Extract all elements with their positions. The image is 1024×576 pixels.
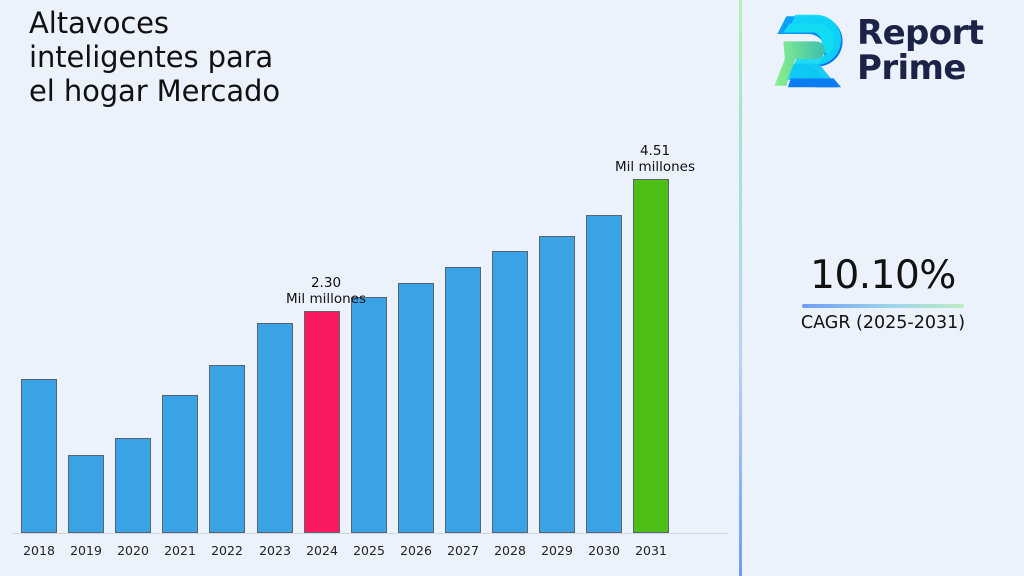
brand-logo: Report Prime: [773, 10, 983, 92]
brand-wordmark: Report Prime: [857, 16, 983, 86]
cagr-caption: CAGR (2025-2031): [742, 312, 1024, 334]
bar-2018[interactable]: [21, 379, 57, 533]
bar-2025[interactable]: [351, 297, 387, 533]
bar-2019[interactable]: [68, 455, 104, 533]
chart-panel: Altavoces inteligentes para el hogar Mer…: [0, 0, 740, 576]
bar-rect-2029: [539, 236, 575, 533]
bar-2022[interactable]: [209, 365, 245, 533]
bar-rect-2024: [304, 311, 340, 533]
bar-2031[interactable]: [633, 179, 669, 533]
bar-2023[interactable]: [257, 323, 293, 533]
bar-rect-2025: [351, 297, 387, 533]
bar-rect-2026: [398, 283, 434, 533]
cagr-divider-rule: [802, 304, 964, 308]
bar-rect-2022: [209, 365, 245, 533]
bar-rect-2031: [633, 179, 669, 533]
x-axis-line: [12, 533, 728, 534]
bar-2020[interactable]: [115, 438, 151, 533]
bar-2030[interactable]: [586, 215, 622, 533]
bar-rect-2030: [586, 215, 622, 533]
bar-rect-2021: [162, 395, 198, 533]
bar-rect-2019: [68, 455, 104, 533]
value-label-2024: 2.30 Mil millones: [251, 275, 401, 307]
bar-2028[interactable]: [492, 251, 528, 533]
bar-2024[interactable]: [304, 311, 340, 533]
bar-rect-2020: [115, 438, 151, 533]
slide-root: Altavoces inteligentes para el hogar Mer…: [0, 0, 1024, 576]
bar-rect-2028: [492, 251, 528, 533]
bar-2021[interactable]: [162, 395, 198, 533]
bar-2029[interactable]: [539, 236, 575, 533]
bar-rect-2027: [445, 267, 481, 533]
bar-rect-2023: [257, 323, 293, 533]
brand-panel: Report Prime 10.10% CAGR (2025-2031): [742, 0, 1024, 576]
x-tick-2031: 2031: [623, 543, 679, 558]
bar-2027[interactable]: [445, 267, 481, 533]
value-label-2031: 4.51 Mil millones: [580, 143, 730, 175]
bar-chart: 2018201920202021202220232024202520262027…: [0, 0, 740, 576]
report-prime-logo-icon: [773, 10, 847, 92]
bar-rect-2018: [21, 379, 57, 533]
cagr-value: 10.10%: [742, 253, 1024, 299]
bar-2026[interactable]: [398, 283, 434, 533]
cagr-block: 10.10% CAGR (2025-2031): [742, 253, 1024, 334]
